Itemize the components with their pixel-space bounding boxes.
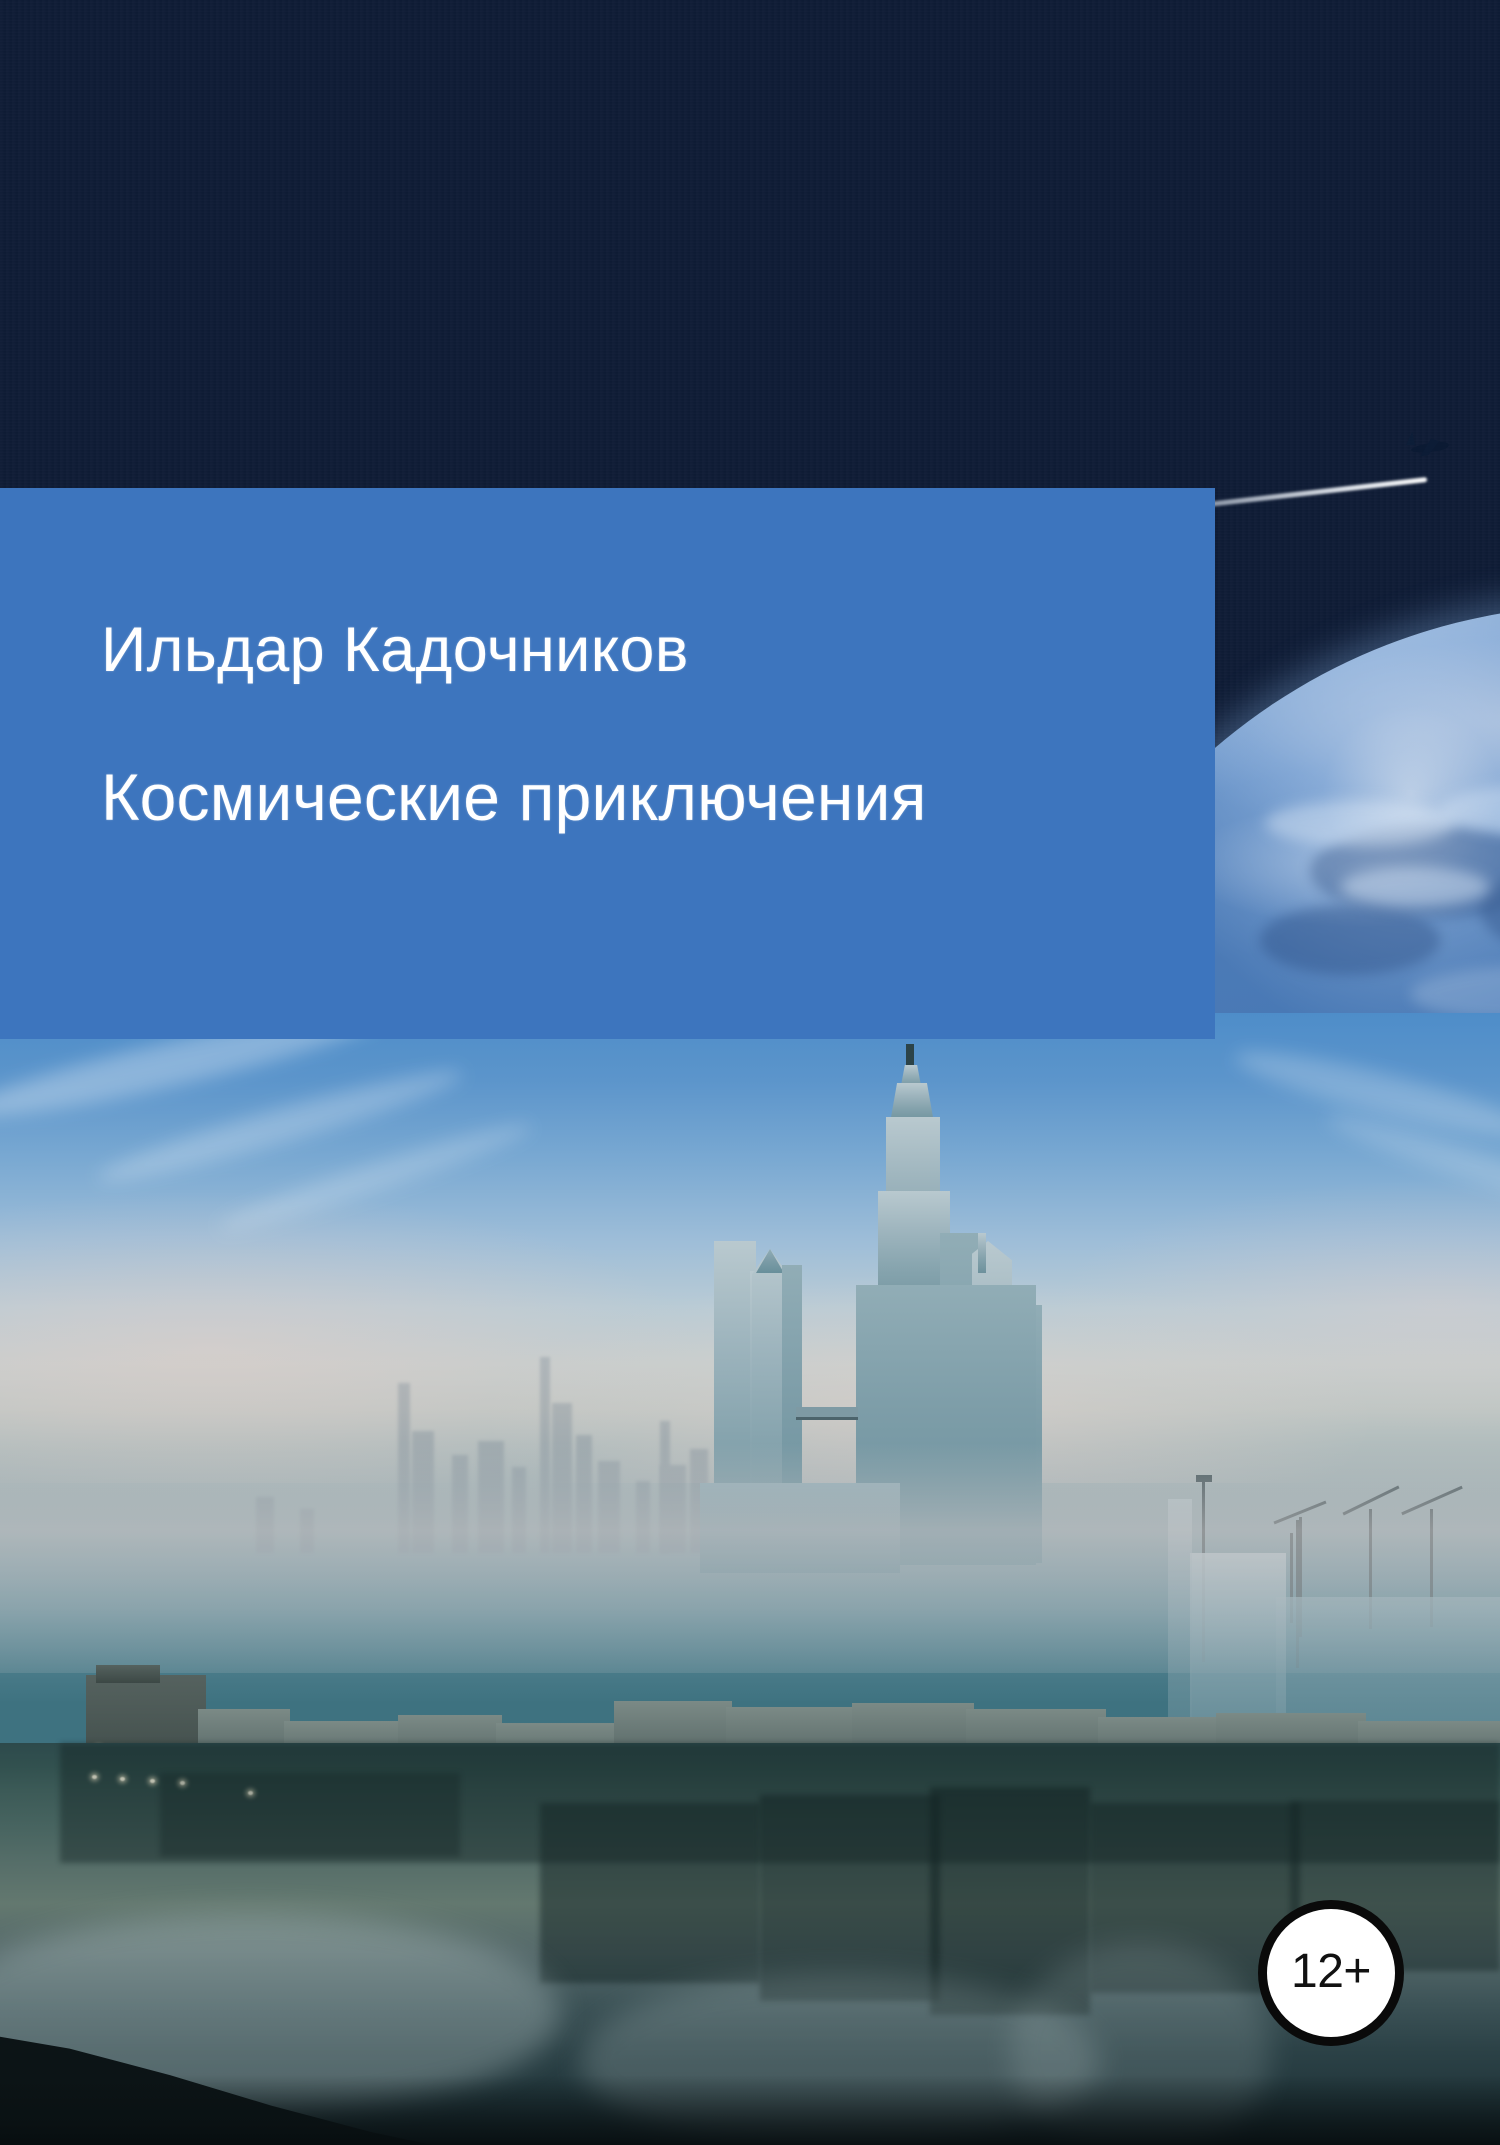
water-reflection [760,1795,940,2001]
light-reflection [180,1781,185,1785]
light-reflection [248,1791,253,1795]
author-name: Ильдар Кадочников [101,617,1161,683]
foreground-vignette [0,2075,1500,2145]
light-reflection [92,1775,97,1779]
book-cover: Ильдар Кадочников Космические приключени… [0,0,1500,2145]
light-reflection [120,1777,125,1781]
water-reflection [540,1803,760,1983]
age-rating-badge: 12+ [1258,1900,1404,2046]
water-reflection [160,1773,460,1857]
age-rating-label: 12+ [1291,1948,1371,1998]
light-reflection [150,1779,155,1783]
book-title: Космические приключения [101,762,1161,833]
